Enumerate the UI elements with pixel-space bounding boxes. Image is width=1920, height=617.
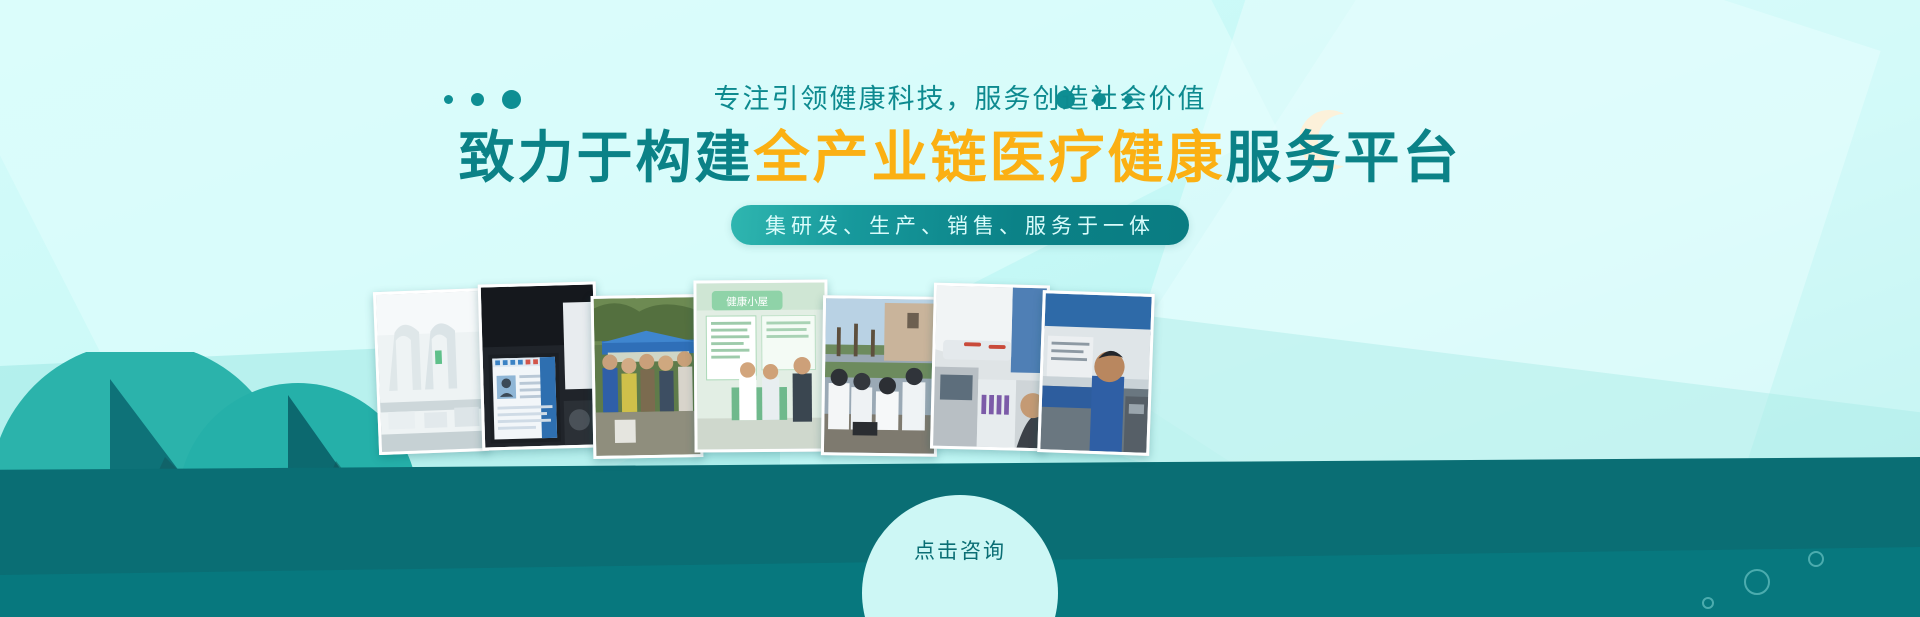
dot-large bbox=[1056, 90, 1075, 109]
banner-headline: 致力于构建全产业链医疗健康服务平台 bbox=[0, 126, 1920, 190]
photo-card[interactable]: 健康小屋 bbox=[693, 280, 828, 453]
headline-tail: 服务平台 bbox=[1226, 126, 1462, 189]
decor-dots-right bbox=[1056, 90, 1133, 109]
photo-card[interactable]: 下乡义诊体检车 bbox=[591, 294, 704, 459]
promo-banner: 专注引领健康科技，服务创造社会价值 致力于构建全产业链医疗健康服务平台 集研发、… bbox=[0, 0, 1920, 617]
subtitle-pill-label: 集研发、生产、销售、服务于一体 bbox=[765, 210, 1155, 240]
dot-small bbox=[444, 95, 453, 104]
consult-button-label: 点击咨询 bbox=[914, 535, 1006, 565]
dot-medium bbox=[1093, 93, 1106, 106]
decor-dots-left bbox=[444, 90, 521, 109]
photo-card[interactable]: 实验室检验分析 bbox=[1037, 290, 1155, 456]
photo-card[interactable]: 健康一体机检测 bbox=[478, 281, 601, 450]
crescent-moon-icon bbox=[1298, 108, 1362, 172]
photo-card[interactable]: 社区医护团队 bbox=[821, 295, 939, 457]
dot-medium bbox=[471, 93, 484, 106]
headline-lead: 致力于构建 bbox=[459, 126, 754, 189]
headline-accent: 全产业链医疗健康 bbox=[754, 126, 1226, 189]
dot-small bbox=[1124, 95, 1133, 104]
photo-card[interactable]: 医疗设备生产车间 bbox=[373, 288, 489, 455]
svg-text:健康小屋: 健康小屋 bbox=[726, 295, 768, 308]
photo-card[interactable]: 移动体检车内部 bbox=[930, 283, 1050, 452]
dot-large bbox=[502, 90, 521, 109]
banner-eyebrow: 专注引领健康科技，服务创造社会价值 bbox=[0, 83, 1920, 116]
photo-strip: 医疗设备生产车间 bbox=[376, 280, 1196, 458]
subtitle-pill: 集研发、生产、销售、服务于一体 bbox=[731, 205, 1189, 245]
